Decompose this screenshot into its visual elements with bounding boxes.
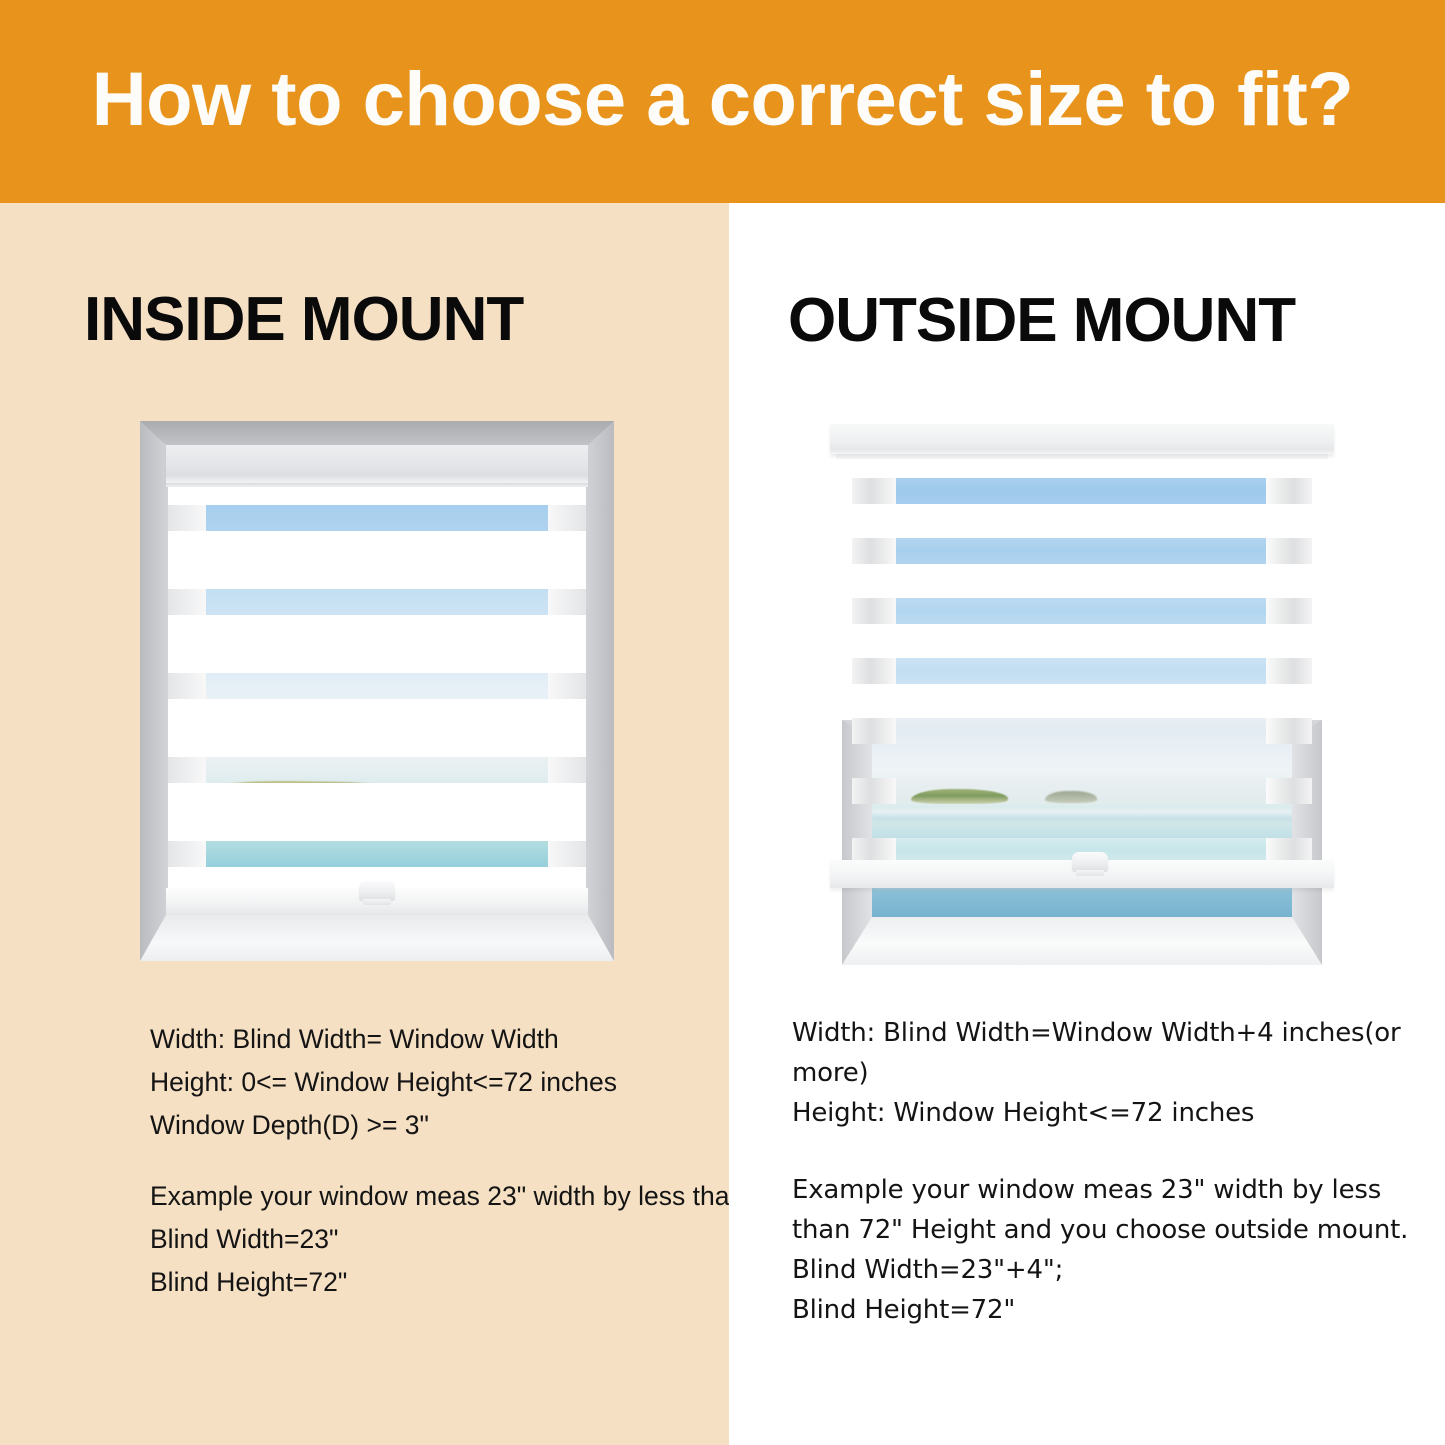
window-reveal-left [140,421,168,961]
blind-band-sheer-core [896,718,1268,744]
blind-pull-handle[interactable] [359,881,395,900]
blind-sheer-band [852,718,1312,744]
blind-band-endcap [852,838,898,862]
blind-band-endcap [852,718,898,744]
blind-band-endcap [852,598,898,624]
sky-sea-scenery [166,445,588,915]
blind-opaque-band [166,531,588,589]
page-title: How to choose a correct size to fit? [92,62,1354,138]
blind-band-endcap [1266,538,1312,564]
wall-surface [826,420,1338,965]
outside-mount-heading: OUTSIDE MOUNT [788,290,1295,352]
blind-band-endcap [166,757,206,783]
blind-band-endcap [166,589,206,615]
blind-band-endcap [852,778,898,804]
window-sill [842,917,1322,965]
inside-mount-specs: Width: Blind Width= Window Width Height:… [150,1018,617,1147]
header-banner: How to choose a correct size to fit? [0,0,1445,203]
blind-band-endcap [1266,718,1312,744]
blind-sheer-band [852,478,1312,504]
size-guide-infographic: How to choose a correct size to fit? INS… [0,0,1445,1445]
outside-mount-window-illustration [826,420,1338,965]
blind-band-sheer-core [896,778,1268,804]
blind-sheer-band [852,598,1312,624]
blind-band-endcap [166,673,206,699]
blind-band-endcap [852,538,898,564]
blind-band-endcap [548,757,588,783]
blind-opaque-band [166,615,588,673]
inside-mount-window-illustration [140,421,614,961]
window-reveal-right [586,421,614,961]
blind-opaque-band [166,783,588,841]
blind-band-endcap [548,505,588,531]
blind-band-sheer-core [896,478,1268,504]
inside-mount-heading: INSIDE MOUNT [84,289,523,351]
blind-band-endcap [852,658,898,684]
blind-band-endcap [1266,838,1312,862]
window-reveal-top [140,421,614,447]
blind-band-sheer-core [896,658,1268,684]
blind-band-endcap [1266,478,1312,504]
blind-band-endcap [548,841,588,867]
blind-sheer-band [852,538,1312,564]
blind-headrail [830,424,1334,454]
blind-band-endcap [166,841,206,867]
blind-sheer-band [852,778,1312,804]
blind-band-endcap [852,478,898,504]
blind-band-sheer-core [896,538,1268,564]
island-shape-icon [911,789,1008,804]
island-shape-secondary-icon [1045,791,1097,803]
blind-band-sheer-core [896,598,1268,624]
blind-opaque-band [166,699,588,757]
blind-band-endcap [548,673,588,699]
blind-band-endcap [548,589,588,615]
blind-headrail [166,445,588,483]
blind-band-endcap [166,505,206,531]
window-opening [166,445,588,915]
blind-band-endcap [1266,778,1312,804]
blind-band-endcap [1266,658,1312,684]
window-glass [872,738,1292,918]
outside-mount-specs: Width: Blind Width=Window Width+4 inches… [792,1013,1445,1133]
window-sill [140,915,614,961]
blind-band-endcap [1266,598,1312,624]
outside-mount-example: Example your window meas 23" width by le… [792,1170,1445,1330]
blind-pull-handle[interactable] [1072,852,1108,871]
blind-sheer-band [852,658,1312,684]
